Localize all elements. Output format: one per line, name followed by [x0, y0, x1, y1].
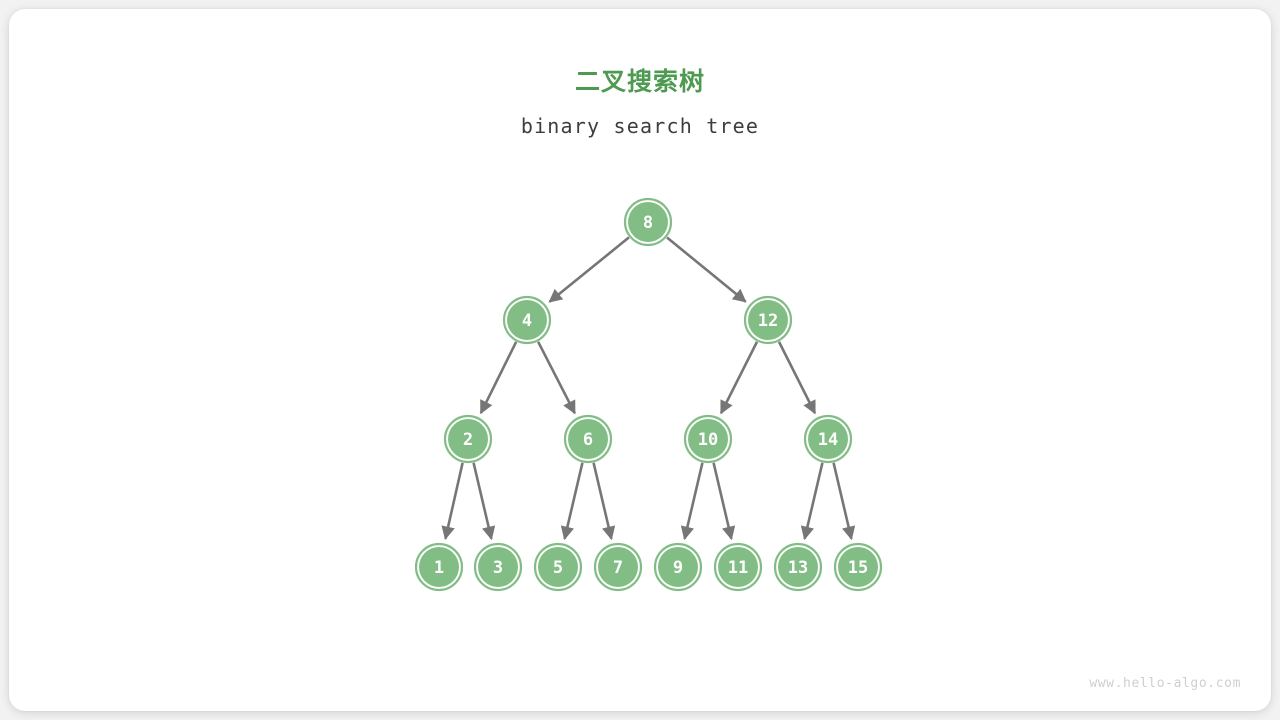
node-value: 13: [788, 558, 808, 578]
tree-node[interactable]: 5: [535, 544, 581, 590]
node-value: 1: [434, 558, 444, 578]
tree-edge: [685, 463, 703, 539]
tree-node[interactable]: 2: [445, 416, 491, 462]
node-value: 5: [553, 558, 563, 578]
node-value: 4: [522, 311, 532, 331]
tree-node[interactable]: 9: [655, 544, 701, 590]
tree-edge: [474, 463, 492, 539]
binary-search-tree-diagram: 841226101413579111315: [9, 9, 1271, 711]
tree-edge: [481, 342, 516, 413]
screenshot-canvas: 二叉搜索树 binary search tree 841226101413579…: [0, 0, 1280, 720]
node-value: 8: [643, 213, 653, 233]
tree-node[interactable]: 15: [835, 544, 881, 590]
node-value: 11: [728, 558, 748, 578]
tree-edge: [805, 463, 823, 539]
tree-node[interactable]: 3: [475, 544, 521, 590]
tree-node[interactable]: 10: [685, 416, 731, 462]
tree-node[interactable]: 13: [775, 544, 821, 590]
node-value: 10: [698, 430, 718, 450]
tree-edge: [667, 237, 746, 301]
site-watermark: www.hello-algo.com: [1089, 676, 1241, 691]
tree-edge: [550, 237, 629, 301]
node-value: 3: [493, 558, 503, 578]
tree-node[interactable]: 7: [595, 544, 641, 590]
node-value: 14: [818, 430, 838, 450]
tree-node[interactable]: 8: [625, 199, 671, 245]
tree-edge: [779, 342, 815, 413]
tree-edge: [538, 342, 575, 413]
tree-node[interactable]: 14: [805, 416, 851, 462]
node-value: 12: [758, 311, 778, 331]
tree-edges: [445, 237, 851, 538]
node-value: 7: [613, 558, 623, 578]
tree-node[interactable]: 6: [565, 416, 611, 462]
node-value: 15: [848, 558, 868, 578]
tree-edge: [721, 342, 757, 413]
tree-node[interactable]: 11: [715, 544, 761, 590]
tree-edge: [445, 463, 462, 539]
node-value: 6: [583, 430, 593, 450]
diagram-card: 二叉搜索树 binary search tree 841226101413579…: [9, 9, 1271, 711]
tree-node[interactable]: 4: [504, 297, 550, 343]
node-value: 9: [673, 558, 683, 578]
tree-edge: [565, 463, 583, 539]
tree-nodes: 841226101413579111315: [416, 199, 881, 590]
tree-node[interactable]: 1: [416, 544, 462, 590]
node-value: 2: [463, 430, 473, 450]
tree-edge: [714, 463, 732, 539]
tree-node[interactable]: 12: [745, 297, 791, 343]
tree-edge: [834, 463, 852, 539]
tree-edge: [594, 463, 612, 539]
